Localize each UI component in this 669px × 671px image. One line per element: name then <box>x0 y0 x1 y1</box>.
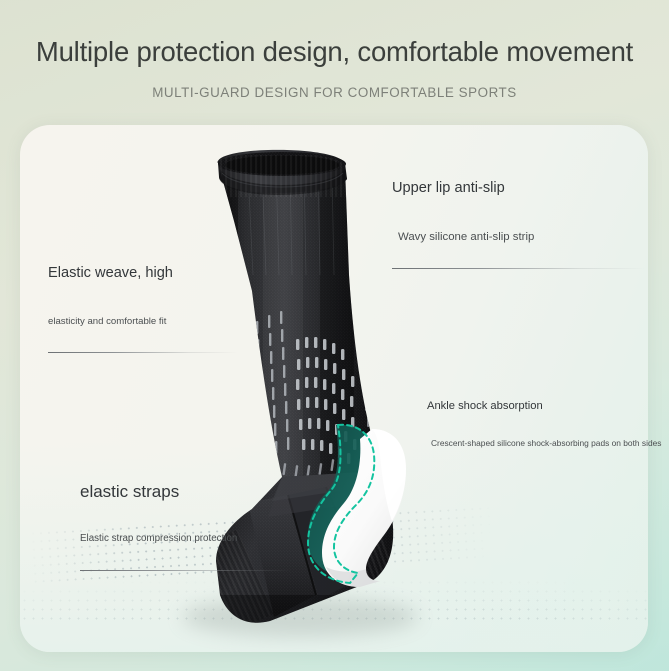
annotation-title: Elastic weave, high <box>48 266 238 281</box>
page-title: Multiple protection design, comfortable … <box>0 0 669 68</box>
annotation-body: Crescent-shaped silicone shock-absorbing… <box>431 439 648 447</box>
annotation-title: Ankle shock absorption <box>427 401 648 412</box>
annotation-rule <box>392 268 645 269</box>
annotation-rule <box>48 352 238 353</box>
page-subtitle: MULTI-GUARD DESIGN FOR COMFORTABLE SPORT… <box>0 68 669 100</box>
annotation-elastic-weave: Elastic weave, high elasticity and comfo… <box>48 266 238 353</box>
annotation-upper-lip: Upper lip anti-slip Wavy silicone anti-s… <box>392 181 645 269</box>
annotation-elastic-straps: elastic straps Elastic strap compression… <box>80 483 292 571</box>
annotation-body: Wavy silicone anti-slip strip <box>398 232 645 243</box>
annotation-body: Elastic strap compression protection <box>80 534 292 544</box>
annotation-body: elasticity and comfortable fit <box>48 317 238 327</box>
annotation-title: elastic straps <box>80 483 292 500</box>
annotation-ankle-shock-absorption: Ankle shock absorption Crescent-shaped s… <box>427 401 648 448</box>
annotation-title: Upper lip anti-slip <box>392 181 645 196</box>
infographic-page: Multiple protection design, comfortable … <box>0 0 669 671</box>
annotation-rule <box>80 570 292 571</box>
header: Multiple protection design, comfortable … <box>0 0 669 100</box>
